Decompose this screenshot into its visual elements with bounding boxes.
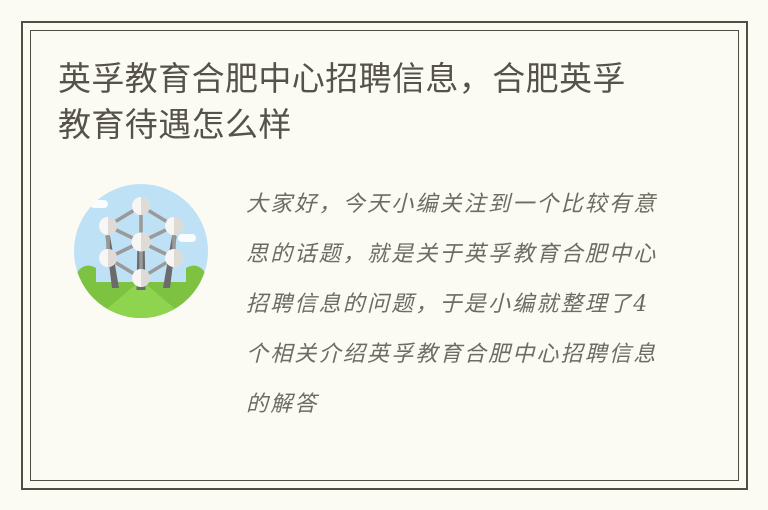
page-title: 英孚教育合肥中心招聘信息，合肥英孚教育待遇怎么样 xyxy=(58,56,658,148)
atomium-landmark-illustration-icon xyxy=(74,184,208,318)
article-card-page: 英孚教育合肥中心招聘信息，合肥英孚教育待遇怎么样 xyxy=(0,0,768,510)
card-content: 英孚教育合肥中心招聘信息，合肥英孚教育待遇怎么样 xyxy=(30,30,739,481)
article-body-row: 大家好，今天小编关注到一个比较有意思的话题，就是关于英孚教育合肥中心招聘信息的问… xyxy=(58,180,711,452)
article-excerpt: 大家好，今天小编关注到一个比较有意思的话题，就是关于英孚教育合肥中心招聘信息的问… xyxy=(246,180,666,430)
